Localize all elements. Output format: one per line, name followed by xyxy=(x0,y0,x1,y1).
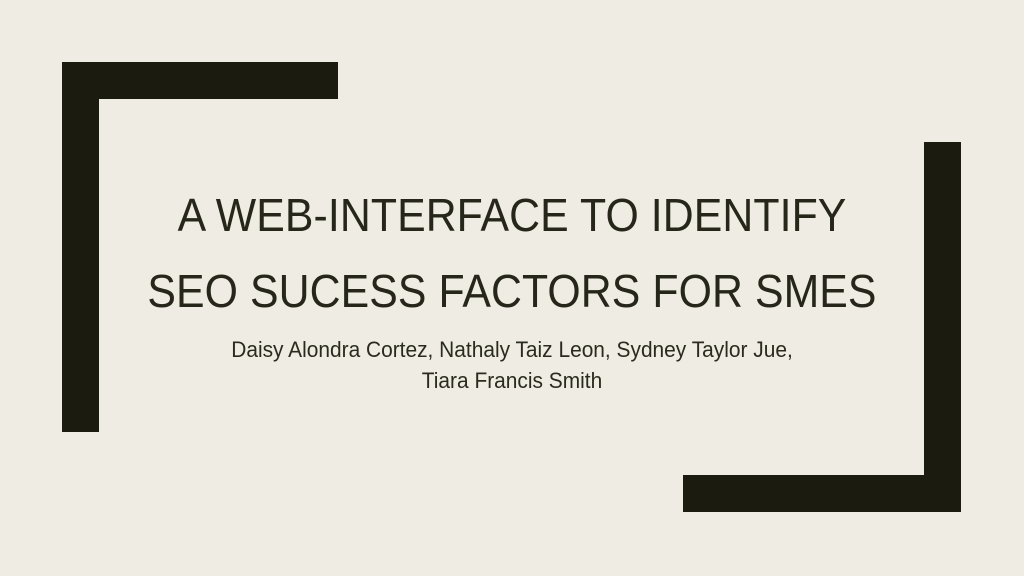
subtitle-authors-line-2: Tiara Francis Smith xyxy=(26,365,999,396)
page-title-line-1: A WEB-INTERFACE TO IDENTIFY xyxy=(36,192,988,238)
slide-text-block: A WEB-INTERFACE TO IDENTIFY SEO SUCESS F… xyxy=(0,0,1024,576)
slide-subtitle: Daisy Alondra Cortez, Nathaly Taiz Leon,… xyxy=(26,334,999,396)
page-title-line-2: SEO SUCESS FACTORS FOR SMES xyxy=(36,268,988,314)
title-slide: A WEB-INTERFACE TO IDENTIFY SEO SUCESS F… xyxy=(0,0,1024,576)
subtitle-authors-line-1: Daisy Alondra Cortez, Nathaly Taiz Leon,… xyxy=(26,334,999,365)
